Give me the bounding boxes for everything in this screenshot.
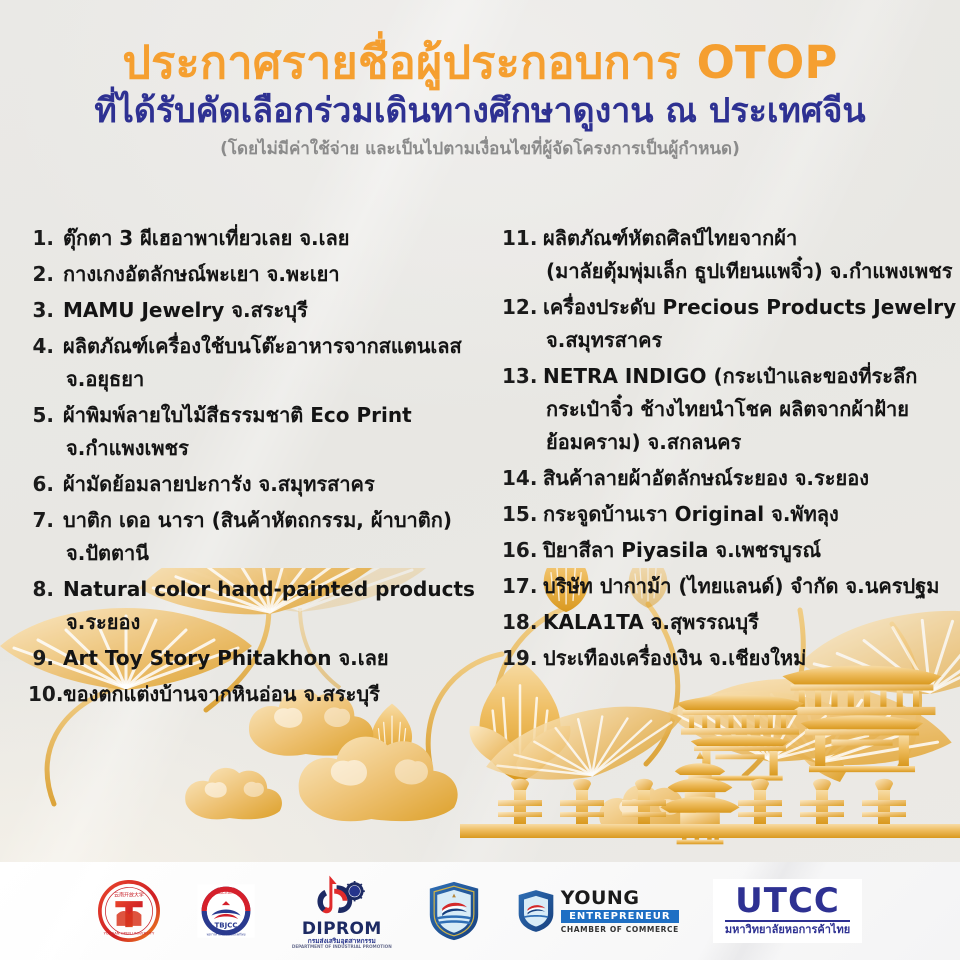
- svg-text:泰国北京总商会: 泰国北京总商会: [214, 890, 239, 895]
- list-item: 10. ของตกแต่งบ้านจากหินอ่อน จ.สระบุรี: [28, 678, 480, 711]
- list-item-text: ของตกแต่งบ้านจากหินอ่อน จ.สระบุรี: [63, 678, 380, 711]
- list-item-number: 18.: [502, 606, 534, 639]
- list-item-number: 15.: [502, 498, 534, 531]
- list-item: 6. ผ้ามัดย้อมลายปะการัง จ.สมุทรสาคร: [28, 468, 480, 501]
- tbjcc-logo: TBJCC 泰国北京总商会 หอการค้าไทยจีนในประเทศไทย: [194, 881, 258, 941]
- list-item-number: 17.: [502, 570, 534, 603]
- list-item-text: KALA1TA จ.สุพรรณบุรี: [543, 606, 759, 639]
- list-item-number: 14.: [502, 462, 534, 495]
- list-item-text: บริษัท ปากาม้า (ไทยแลนด์) จำกัด จ.นครปฐม: [543, 570, 939, 603]
- utcc-logo: UTCC มหาวิทยาลัยหอการค้าไทย: [713, 879, 862, 942]
- participants-list: 1. ตุ๊กตา 3 ผีเฮอาพาเที่ยวเลย จ.เลย 2. ก…: [0, 222, 960, 714]
- yec-line1: YOUNG: [561, 889, 679, 908]
- svg-text:TBJCC: TBJCC: [214, 921, 237, 929]
- list-item: 9. Art Toy Story Phitakhon จ.เลย: [28, 642, 480, 675]
- list-item-text: สินค้าลายผ้าอัตลักษณ์ระยอง จ.ระยอง: [543, 462, 869, 495]
- list-item-number: 7.: [28, 504, 54, 537]
- page-note: (โดยไม่มีค่าใช้จ่าย และเป็นไปตามเงื่อนไข…: [0, 139, 960, 159]
- list-item-text: ตุ๊กตา 3 ผีเฮอาพาเที่ยวเลย จ.เลย: [63, 222, 349, 255]
- list-item: 19. ประเทืองเครื่องเงิน จ.เชียงใหม่: [502, 642, 960, 675]
- list-item-text: MAMU Jewelry จ.สระบุรี: [63, 294, 308, 327]
- list-column-left: 1. ตุ๊กตา 3 ผีเฮอาพาเที่ยวเลย จ.เลย 2. ก…: [0, 222, 480, 714]
- list-item: 7. บาติก เดอ นารา (สินค้าหัตถกรรม, ผ้าบา…: [28, 504, 480, 570]
- list-item: 15. กระจูดบ้านเรา Original จ.พัทลุง: [502, 498, 960, 531]
- list-item-text: Natural color hand-painted products จ.ระ…: [63, 573, 475, 639]
- diprom-logo: DIPROM กรมส่งเสริมอุตสาหกรรม DEPARTMENT …: [292, 872, 392, 950]
- footer-logo-bar: 云南开放大学 YUNNAN OPEN UNIVERSITY TBJCC 泰国北京…: [0, 862, 960, 960]
- list-item-number: 6.: [28, 468, 54, 501]
- list-item: 3. MAMU Jewelry จ.สระบุรี: [28, 294, 480, 327]
- list-item-text: ผลิตภัณฑ์เครื่องใช้บนโต๊ะอาหารจากสแตนเลส…: [63, 330, 462, 396]
- utcc-wordmark: UTCC: [735, 884, 840, 918]
- list-item-text: กระจูดบ้านเรา Original จ.พัทลุง: [543, 498, 839, 531]
- list-item-number: 4.: [28, 330, 54, 363]
- list-item-text: ผลิตภัณฑ์หัตถศิลป์ไทยจากผ้า (มาลัยตุ้มพุ…: [543, 222, 953, 288]
- list-item: 17. บริษัท ปากาม้า (ไทยแลนด์) จำกัด จ.นค…: [502, 570, 960, 603]
- svg-text:云南开放大学: 云南开放大学: [114, 892, 144, 899]
- list-item: 5. ผ้าพิมพ์ลายใบไม้สีธรรมชาติ Eco Print …: [28, 399, 480, 465]
- list-item-number: 12.: [502, 291, 534, 324]
- list-item: 13. NETRA INDIGO (กระเป๋าและของที่ระลึก …: [502, 360, 960, 459]
- list-item-number: 13.: [502, 360, 534, 393]
- list-item: 14. สินค้าลายผ้าอัตลักษณ์ระยอง จ.ระยอง: [502, 462, 960, 495]
- page-title: ประกาศรายชื่อผู้ประกอบการ OTOP: [0, 38, 960, 88]
- svg-text:หอการค้าไทยจีนในประเทศไทย: หอการค้าไทยจีนในประเทศไทย: [206, 932, 245, 936]
- list-item-number: 19.: [502, 642, 534, 675]
- list-item-text: เครื่องประดับ Precious Products Jewelry …: [543, 291, 956, 357]
- list-item-text: ปิยาสีลา Piyasila จ.เพชรบูรณ์: [543, 534, 821, 567]
- poster-header: ประกาศรายชื่อผู้ประกอบการ OTOP ที่ได้รับ…: [0, 38, 960, 160]
- list-item-number: 1.: [28, 222, 54, 255]
- list-item: 8. Natural color hand-painted products จ…: [28, 573, 480, 639]
- list-item: 18. KALA1TA จ.สุพรรณบุรี: [502, 606, 960, 639]
- list-item-text: กางเกงอัตลักษณ์พะเยา จ.พะเยา: [63, 258, 340, 291]
- list-column-right: 11. ผลิตภัณฑ์หัตถศิลป์ไทยจากผ้า (มาลัยตุ…: [480, 222, 960, 678]
- thai-chamber-of-commerce-logo: [426, 880, 482, 942]
- diprom-caption-en: DEPARTMENT OF INDUSTRIAL PROMOTION: [292, 945, 392, 950]
- list-item: 4. ผลิตภัณฑ์เครื่องใช้บนโต๊ะอาหารจากสแตน…: [28, 330, 480, 396]
- list-item: 1. ตุ๊กตา 3 ผีเฮอาพาเที่ยวเลย จ.เลย: [28, 222, 480, 255]
- list-item-text: บาติก เดอ นารา (สินค้าหัตถกรรม, ผ้าบาติก…: [63, 504, 452, 570]
- list-item: 16. ปิยาสีลา Piyasila จ.เพชรบูรณ์: [502, 534, 960, 567]
- list-item: 11. ผลิตภัณฑ์หัตถศิลป์ไทยจากผ้า (มาลัยตุ…: [502, 222, 960, 288]
- list-item-number: 3.: [28, 294, 54, 327]
- list-item-text: ผ้าพิมพ์ลายใบไม้สีธรรมชาติ Eco Print จ.ก…: [63, 399, 412, 465]
- list-item-number: 5.: [28, 399, 54, 432]
- svg-text:YUNNAN OPEN UNIVERSITY: YUNNAN OPEN UNIVERSITY: [104, 932, 155, 936]
- poster-canvas: ประกาศรายชื่อผู้ประกอบการ OTOP ที่ได้รับ…: [0, 0, 960, 960]
- list-item-number: 11.: [502, 222, 534, 255]
- list-item: 2. กางเกงอัตลักษณ์พะเยา จ.พะเยา: [28, 258, 480, 291]
- list-item: 12. เครื่องประดับ Precious Products Jewe…: [502, 291, 960, 357]
- list-item-text: ผ้ามัดย้อมลายปะการัง จ.สมุทรสาคร: [63, 468, 375, 501]
- yec-shield-icon: [516, 888, 556, 934]
- list-item-number: 10.: [28, 678, 54, 711]
- list-item-text: Art Toy Story Phitakhon จ.เลย: [63, 642, 389, 675]
- yec-line2: ENTREPRENEUR: [561, 910, 679, 923]
- list-item-number: 2.: [28, 258, 54, 291]
- yec-line3: CHAMBER OF COMMERCE: [561, 925, 679, 934]
- yunnan-open-university-logo: 云南开放大学 YUNNAN OPEN UNIVERSITY: [98, 880, 160, 942]
- list-item-number: 16.: [502, 534, 534, 567]
- list-item-text: NETRA INDIGO (กระเป๋าและของที่ระลึก กระเ…: [543, 360, 917, 459]
- page-subtitle: ที่ได้รับคัดเลือกร่วมเดินทางศึกษาดูงาน ณ…: [0, 92, 960, 131]
- list-item-number: 8.: [28, 573, 54, 606]
- list-item-number: 9.: [28, 642, 54, 675]
- young-entrepreneur-logo: YOUNG ENTREPRENEUR CHAMBER OF COMMERCE: [516, 888, 679, 934]
- list-item-text: ประเทืองเครื่องเงิน จ.เชียงใหม่: [543, 642, 806, 675]
- utcc-subtitle: มหาวิทยาลัยหอการค้าไทย: [725, 924, 850, 936]
- diprom-caption: DIPROM: [302, 921, 382, 938]
